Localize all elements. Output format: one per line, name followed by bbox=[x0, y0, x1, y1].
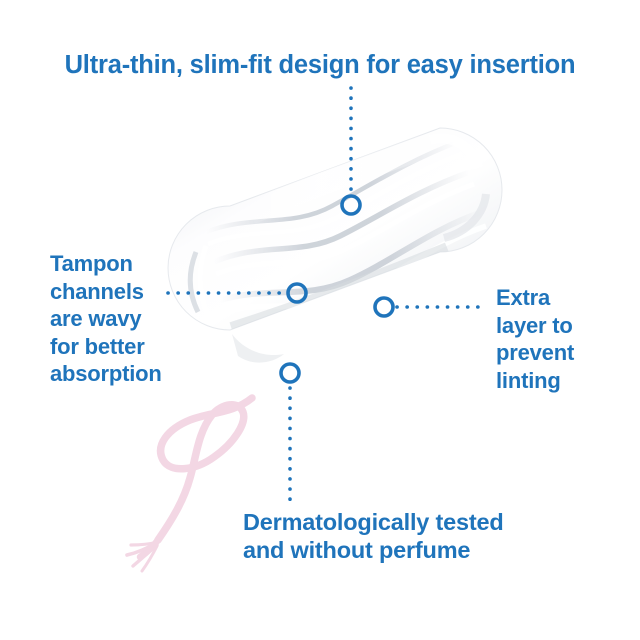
callout-label-top: Ultra-thin, slim-fit design for easy ins… bbox=[0, 50, 640, 80]
callout-label-left: Tampon channels are wavy for better abso… bbox=[50, 250, 200, 388]
tampon-illustration-icon bbox=[168, 128, 502, 363]
infographic-canvas: Ultra-thin, slim-fit design for easy ins… bbox=[0, 0, 640, 640]
callout-label-bottom: Dermatologically tested and without perf… bbox=[243, 508, 573, 564]
callout-label-right: Extra layer to prevent linting bbox=[496, 284, 636, 394]
tampon-string-icon bbox=[127, 398, 252, 571]
